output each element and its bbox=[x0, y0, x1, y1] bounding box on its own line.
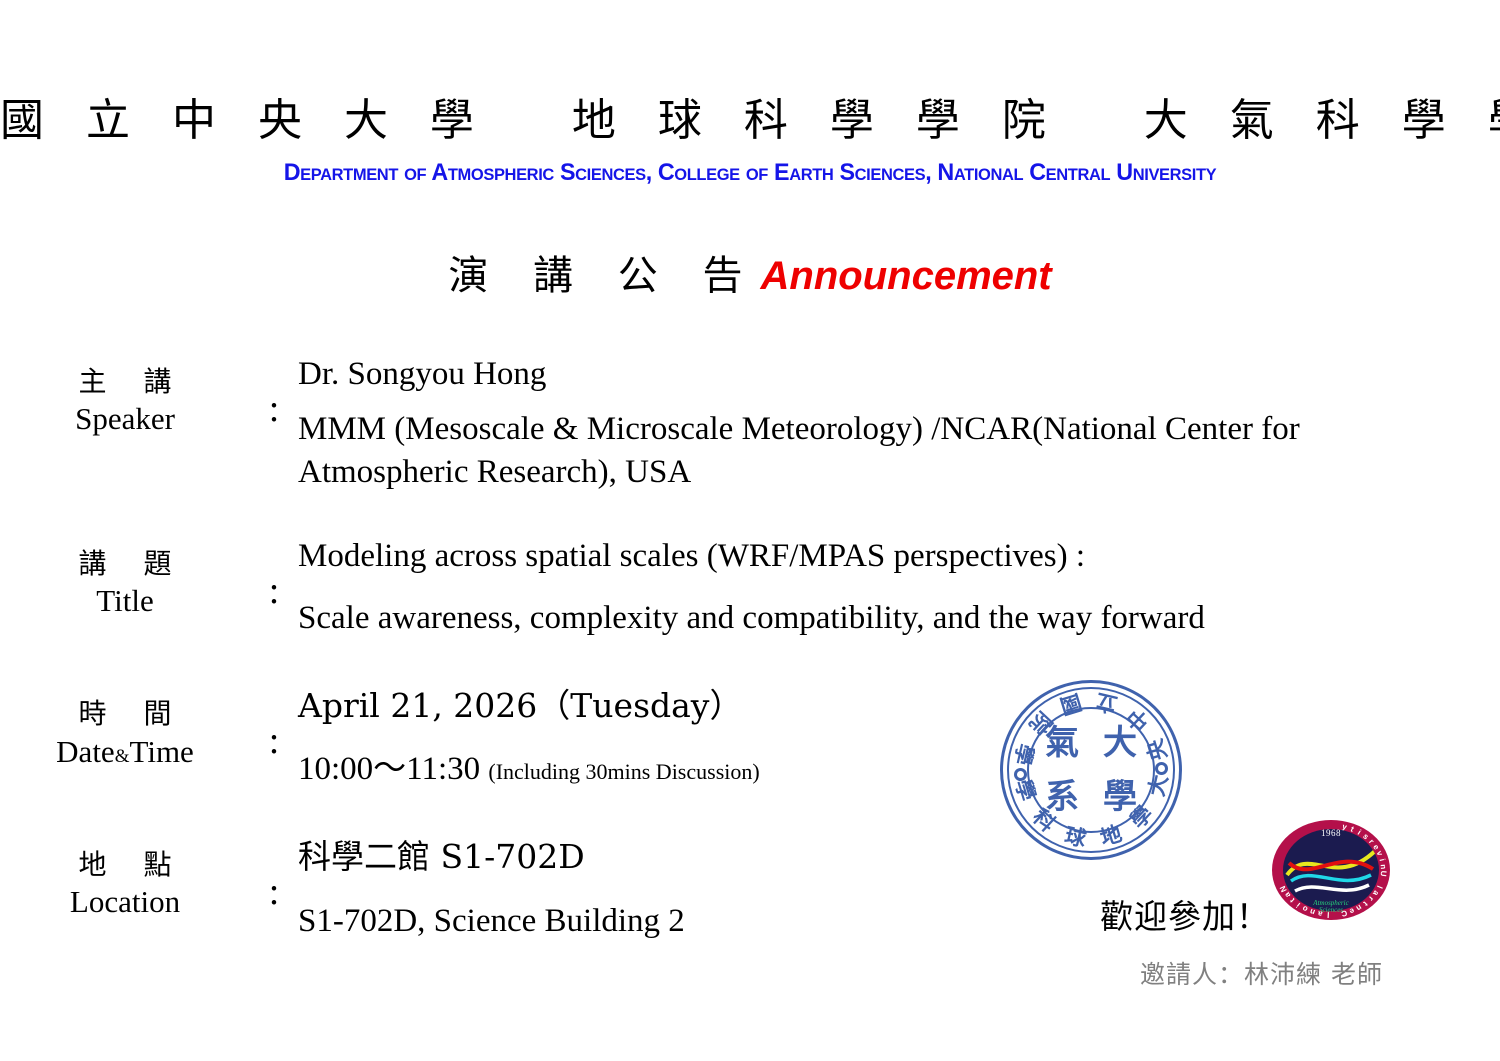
seal-center-text: 氣 大 系 學 bbox=[1033, 716, 1149, 824]
seal-center-char-2: 大 bbox=[1103, 726, 1137, 760]
row-datetime: 時 間 Date&Time : April 21, 2026（Tuesday） … bbox=[0, 684, 1500, 790]
inviter-line: 邀請人：林沛練 老師 bbox=[1140, 955, 1383, 991]
location-colon: : bbox=[250, 835, 298, 911]
datetime-label: 時 間 Date&Time bbox=[0, 684, 250, 771]
location-label-english: Location bbox=[0, 883, 250, 922]
seal-center-char-4: 學 bbox=[1103, 780, 1137, 814]
speaker-label-english: Speaker bbox=[0, 400, 250, 439]
ncu-atmospheric-sciences-logo: NationalCentralUniversity 1968 Atmospher… bbox=[1272, 820, 1390, 920]
location-label: 地 點 Location bbox=[0, 835, 250, 922]
announcement-title-english: Announcement bbox=[761, 254, 1052, 298]
speaker-label: 主 講 Speaker bbox=[0, 352, 250, 439]
seal-center-char-1: 氣 bbox=[1045, 726, 1079, 760]
department-title-english: Department of Atmospheric Sciences, Coll… bbox=[23, 159, 1478, 187]
speaker-colon: : bbox=[250, 352, 298, 428]
speaker-label-chinese: 主 講 bbox=[0, 364, 250, 400]
announcement-title: 演 講 公 告Announcement bbox=[0, 243, 1500, 301]
speaker-name: Dr. Songyou Hong bbox=[298, 352, 1460, 396]
poster-header: 國 立 中 央 大 學 地 球 科 學 學 院 大 氣 科 學 學 系 Depa… bbox=[0, 96, 1500, 187]
location-label-chinese: 地 點 bbox=[0, 847, 250, 883]
seal-flower-icon-left bbox=[1014, 768, 1027, 781]
row-title: 講 題 Title : Modeling across spatial scal… bbox=[0, 534, 1500, 640]
speaker-value: Dr. Songyou Hong MMM (Mesoscale & Micros… bbox=[298, 352, 1500, 494]
title-value: Modeling across spatial scales (WRF/MPAS… bbox=[298, 534, 1500, 640]
datetime-label-date: Date bbox=[56, 734, 115, 769]
department-seal-stamp: 國立中央大學地球科學學院 氣 大 系 學 bbox=[1000, 680, 1182, 860]
datetime-value: April 21, 2026（Tuesday） 10:00～11:30 (Inc… bbox=[298, 684, 1500, 790]
welcome-message: 歡迎參加！ bbox=[1100, 890, 1270, 938]
seal-center-char-3: 系 bbox=[1045, 780, 1079, 814]
seal-flower-icon-right bbox=[1155, 762, 1168, 775]
row-speaker: 主 講 Speaker : Dr. Songyou Hong MMM (Meso… bbox=[0, 352, 1500, 494]
datetime-label-chinese: 時 間 bbox=[0, 696, 250, 732]
datetime-label-english: Date&Time bbox=[0, 733, 250, 772]
speaker-affiliation: MMM (Mesoscale & Microscale Meteorology)… bbox=[298, 408, 1460, 494]
title-colon: : bbox=[250, 534, 298, 610]
datetime-label-amp: & bbox=[115, 746, 130, 767]
logo-subtitle: Atmospheric Sciences bbox=[1272, 900, 1390, 915]
event-time-note: (Including 30mins Discussion) bbox=[488, 759, 759, 784]
event-time-wrapper: 10:00～11:30 (Including 30mins Discussion… bbox=[298, 747, 1460, 791]
department-title-chinese: 國 立 中 央 大 學 地 球 科 學 學 院 大 氣 科 學 學 系 bbox=[0, 96, 1500, 145]
title-label: 講 題 Title bbox=[0, 534, 250, 621]
talk-title-line2: Scale awareness, complexity and compatib… bbox=[298, 596, 1460, 640]
talk-title-line1: Modeling across spatial scales (WRF/MPAS… bbox=[298, 534, 1460, 578]
datetime-colon: : bbox=[250, 684, 298, 760]
title-label-chinese: 講 題 bbox=[0, 546, 250, 582]
event-time: 10:00～11:30 bbox=[298, 751, 480, 787]
title-label-english: Title bbox=[0, 582, 250, 621]
event-date: April 21, 2026（Tuesday） bbox=[298, 684, 1460, 728]
announcement-title-chinese: 演 講 公 告 bbox=[448, 253, 758, 299]
logo-year: 1968 bbox=[1272, 828, 1390, 838]
logo-subtitle-line2: Sciences bbox=[1272, 907, 1390, 915]
datetime-label-time: Time bbox=[129, 734, 193, 769]
